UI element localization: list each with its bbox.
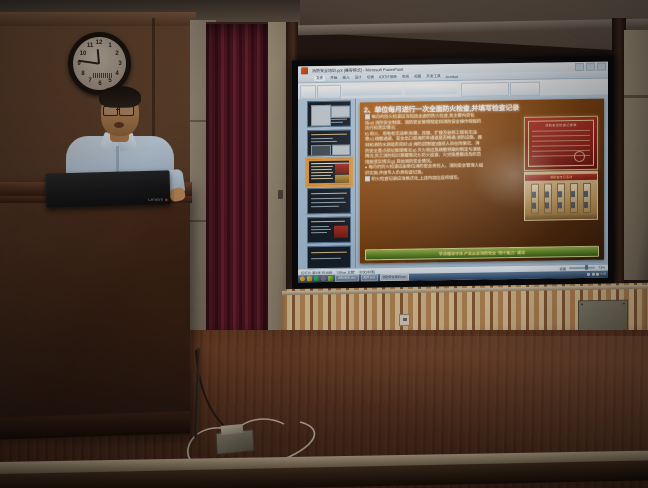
explorer-icon[interactable] [307,276,312,281]
zoom-slider[interactable] [569,267,595,269]
app-icon[interactable] [328,276,333,281]
slide-bullet-1: 每月的防火检查应当包括全面的防火检查,其主要内容包括:a) 消防安全制度、消防安… [365,113,483,132]
clock-numeral-8: 8 [79,70,87,78]
certificate-image: 消防安全检查记录表 [524,116,598,171]
slide-thumbnail-3[interactable]: 3 [307,159,351,186]
tab-view[interactable]: 视图 [414,74,421,79]
zoom-level[interactable]: 73% [598,266,605,270]
door-handle[interactable] [278,190,283,199]
tray-volume-icon[interactable] [592,273,595,276]
slide-thumbnail-4[interactable]: 4 [307,188,351,215]
current-slide[interactable]: 2、单位每月进行一次全面防火检查,并填写检查记录 每月的防火检查应当包括全面的防… [360,99,604,264]
slide-thumbnail-2[interactable]: 2 [307,130,351,157]
tab-design[interactable]: 设计 [355,75,362,80]
tray-network-icon[interactable] [587,273,590,276]
square-bullet-icon-2 [365,176,370,181]
close-icon[interactable] [597,63,606,71]
lecture-hall-photo: 12 1 2 3 4 5 6 7 8 9 10 11 [0,0,648,488]
laptop-brand-label: Lenovo [148,196,163,201]
clock-brand-logo [93,73,113,78]
eyeglasses-left-lens [103,106,118,116]
window-title: 消防安全培训.ppt [兼容模式] - Microsoft PowerPoint [312,66,403,73]
chrome-icon[interactable] [321,276,326,281]
clock-face: 12 1 2 3 4 5 6 7 8 9 10 11 [73,37,126,90]
slide-bullet-4: 防火检查记录应当格式化,上述内容应逐项填写。 [365,174,483,181]
clock-numeral-4: 4 [113,70,121,78]
browser-green-icon[interactable] [314,276,319,281]
powerpoint-logo-icon [301,67,308,74]
language-indicator[interactable]: 中文(中国) [359,269,375,274]
ribbon-group-slides[interactable] [317,85,341,99]
floor-box-lid[interactable] [221,424,244,435]
projection-screen-frame: 消防安全培训.ppt [兼容模式] - Microsoft PowerPoint… [292,55,614,288]
system-tray[interactable]: 9:05 [587,273,606,276]
eyeglasses-right-lens [119,106,134,116]
theme-name: "Office 主题" [336,269,355,274]
tab-developer[interactable]: 开发工具 [426,74,440,79]
laptop-indicator-dot [165,198,168,201]
clock-numeral-1: 1 [106,42,114,50]
clock-numeral-2: 2 [113,50,121,58]
building-photo-caption: 消防宣传日活动 [525,174,597,181]
right-wall-panel-seam [624,95,648,98]
left-wall-top-trim [0,12,196,26]
slide-thumbnail-panel[interactable]: 1 2 3 [298,99,356,269]
slide-body-text: 每月的防火检查应当包括全面的防火检查,其主要内容包括:a) 消防安全制度、消防安… [365,113,483,182]
presenter-laptop[interactable]: Lenovo [46,170,171,207]
taskbar-window-powerpoint[interactable]: 消防安全培训.ppt [380,274,409,281]
ribbon-group-paragraph[interactable] [405,84,457,95]
clock-numeral-12: 12 [95,39,103,47]
ribbon-group-editing[interactable] [510,82,540,96]
slide-editing-canvas[interactable]: 2、单位每月进行一次全面防火检查,并填写检查记录 每月的防火检查应当包括全面的防… [356,95,608,268]
stage-curtain [206,24,270,340]
tray-shield-icon[interactable] [596,273,599,276]
taskbar-window-doc[interactable]: 消防安全.doc [335,274,359,281]
ribbon-group-clipboard[interactable] [300,85,316,99]
maximize-icon[interactable] [586,63,595,71]
tab-insert[interactable]: 插入 [342,76,349,81]
tab-slideshow[interactable]: 幻灯片放映 [379,75,397,80]
tab-review[interactable]: 审阅 [402,75,409,80]
presenter-mouth [114,122,124,128]
ribbon-group-drawing[interactable] [461,82,509,97]
minimize-icon[interactable] [575,63,584,71]
presenter-hair [99,86,141,108]
clock-numeral-3: 3 [116,60,124,68]
slide-bottom-banner: 学法懂法守法 产业企业消防安全 "四个能力" 建设 [365,246,599,261]
clock-numeral-11: 11 [86,42,94,50]
beige-wall-column-right [268,22,288,334]
tab-acrobat[interactable]: Acrobat [446,74,458,78]
tab-home[interactable]: 开始 [330,76,337,81]
tab-transitions[interactable]: 切换 [367,75,374,80]
projected-powerpoint-screen: 消防安全培训.ppt [兼容模式] - Microsoft PowerPoint… [298,62,608,283]
right-wall-panel [624,30,648,280]
start-orb-icon[interactable] [300,276,305,281]
tab-file[interactable]: 文件 [314,76,325,81]
slide-thumbnail-5[interactable]: 5 [307,217,351,244]
slide-bullet-2: b) 用火、用电有无违章;新建、改建、扩建及装修工程有无违章;c) 疏散通道、安… [365,129,483,164]
lectern-podium [0,185,190,435]
zoom-slider-handle[interactable] [585,265,588,270]
wall-outlet[interactable] [399,314,410,326]
taskbar-clock[interactable]: 9:05 [601,273,606,276]
eyeglasses-bridge [116,109,120,110]
taskbar-window-image[interactable]: 图片.jpg [361,274,378,281]
building-photo: 消防宣传日活动 [524,171,598,221]
view-label: 视图 [559,266,566,271]
ribbon-group-font[interactable] [342,85,402,96]
clock-numeral-10: 10 [79,50,87,58]
dot-bullet-icon [365,167,367,169]
slide-thumbnail-1[interactable]: 1 [307,101,351,128]
